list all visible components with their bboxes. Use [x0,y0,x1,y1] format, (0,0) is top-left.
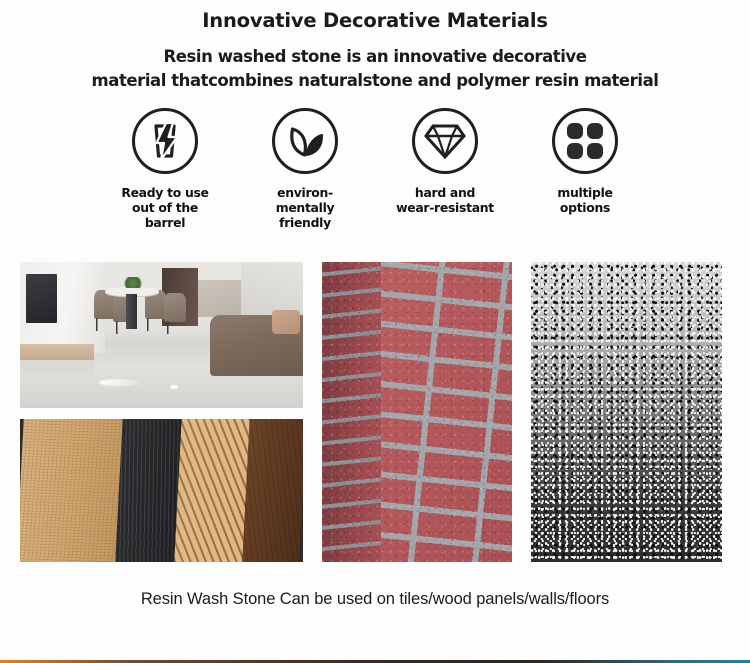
wood-samples [20,419,303,562]
sofa-cushion [272,310,300,333]
wood-panels-photo [20,419,303,562]
image-gallery [20,262,723,562]
wood-plank-ribbed-tan [175,419,250,562]
barrel-lightning-icon [132,108,198,174]
floor-reflection [170,385,178,389]
brick-wall [322,262,512,562]
brick-wall-front-face [381,262,512,562]
gallery-left-column [20,262,303,562]
wood-plank-dark-brown [243,419,303,562]
dining-chair [164,293,185,322]
feature-list: Ready to use out of the barrel environ- … [0,108,750,230]
interior-floor-photo [20,262,303,408]
feature-label: environ- mentally friendly [251,185,359,230]
feature-label: hard and wear-resistant [396,185,494,215]
table-leg [126,294,137,329]
footer-caption: Resin Wash Stone Can be used on tiles/wo… [0,590,750,609]
page-subtitle: Resin washed stone is an innovative deco… [0,32,750,92]
subtitle-line-1: Resin washed stone is an innovative deco… [0,45,750,68]
header: Innovative Decorative Materials Resin wa… [0,0,750,92]
aggregate-grain-texture [531,262,722,562]
feature-environmentally-friendly: environ- mentally friendly [251,108,359,230]
stone-aggregate-photo [531,262,722,562]
stone-aggregate [531,262,722,562]
page-title: Innovative Decorative Materials [0,9,750,32]
diamond-icon [412,108,478,174]
brick-wall-photo [322,262,512,562]
feature-hard-wear-resistant: hard and wear-resistant [391,108,499,215]
feature-multiple-options: multiple options [531,108,639,215]
wood-plank-light-tan [20,419,123,562]
bench-base [20,360,94,375]
leaves-icon [272,108,338,174]
feature-label: Ready to use out of the barrel [111,185,219,230]
wall-tv [26,274,57,324]
floor-reflection [99,379,139,386]
brick-texture [322,262,381,562]
table-plant [123,277,143,289]
brick-wall-side-face [322,262,381,562]
interior-scene [20,262,303,408]
cabinet [198,280,246,318]
brick-texture [381,262,512,562]
subtitle-line-2: material thatcombines naturalstone and p… [0,69,750,92]
feature-label: multiple options [557,185,612,215]
feature-ready-to-use: Ready to use out of the barrel [111,108,219,230]
wood-bench [20,344,94,362]
four-petals-icon [552,108,618,174]
wood-plank-charcoal [115,419,182,562]
